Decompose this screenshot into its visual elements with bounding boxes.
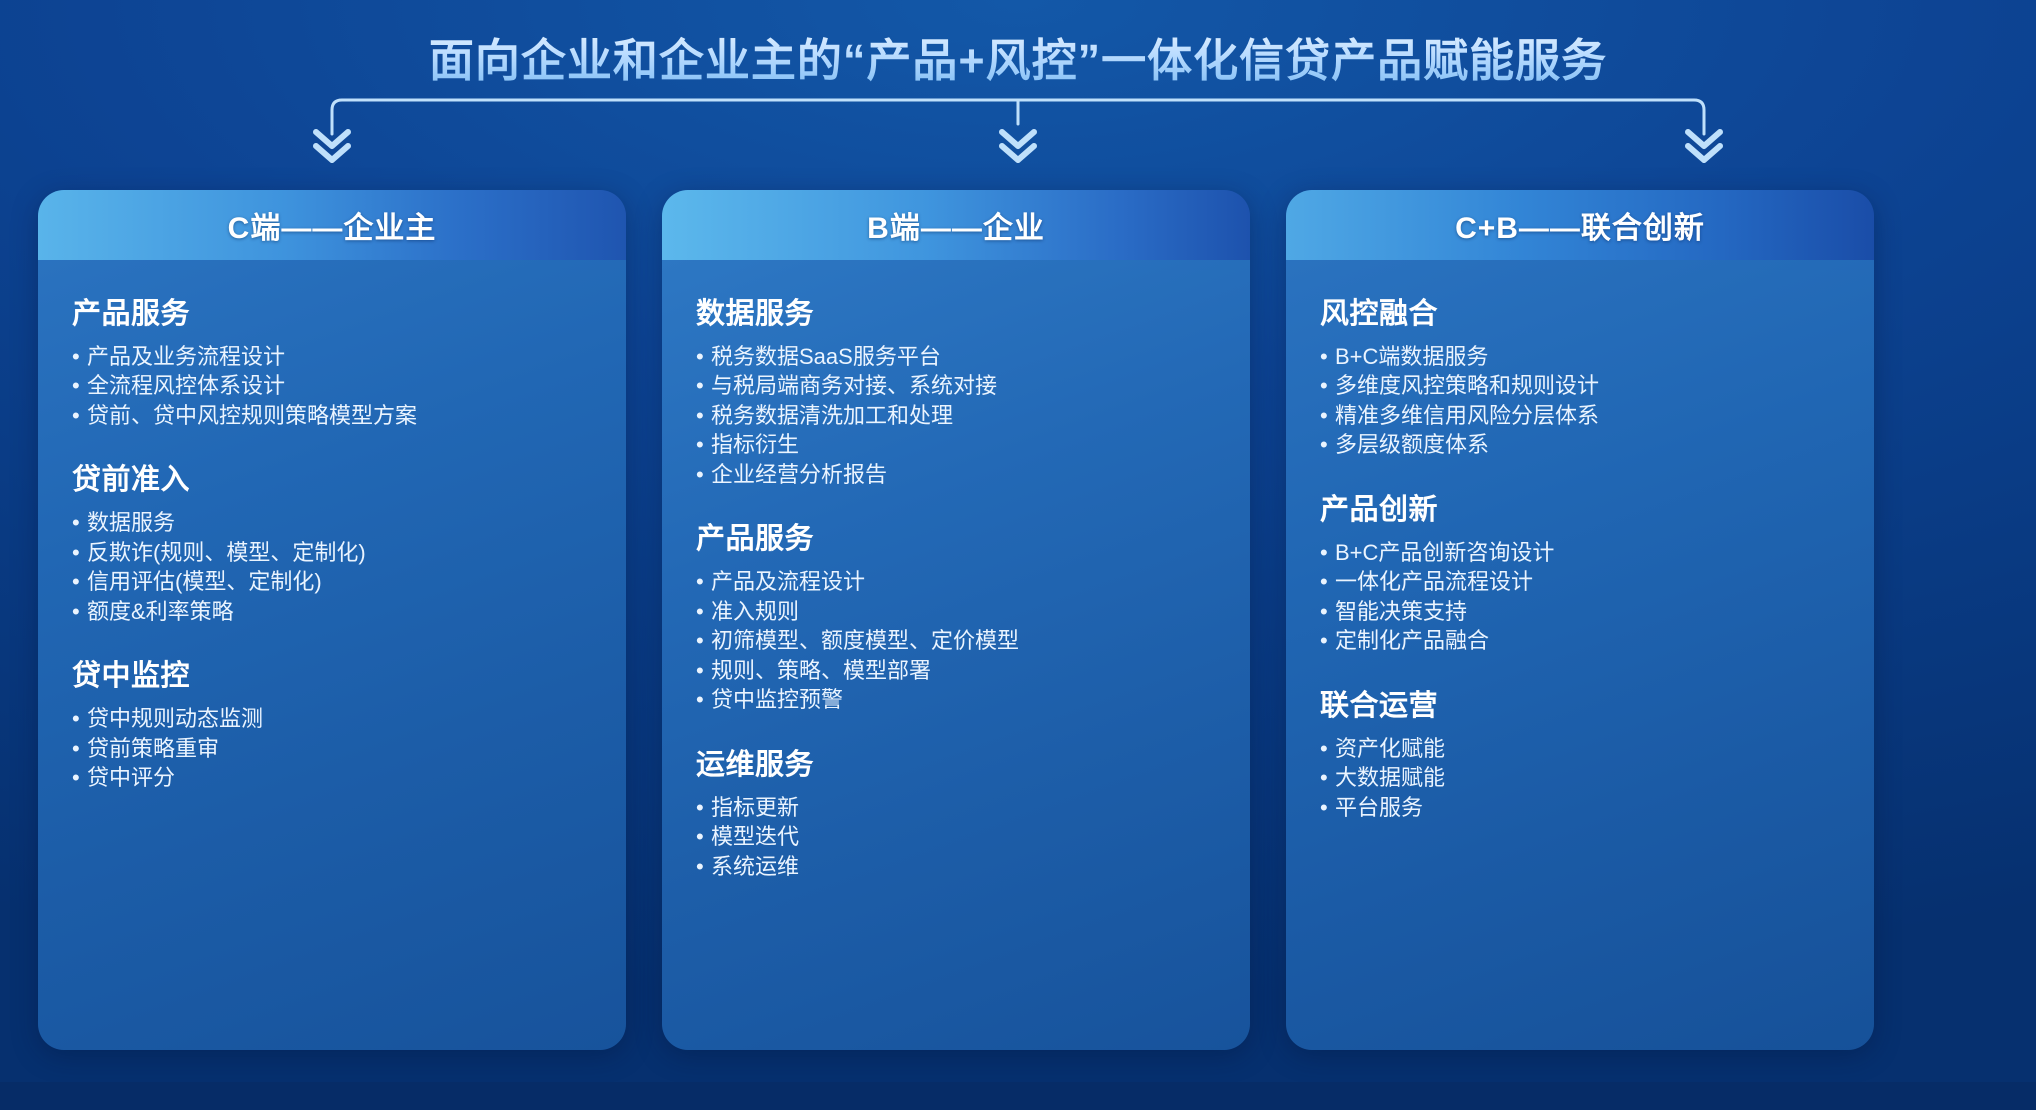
double-chevron-down-icon bbox=[316, 132, 1720, 160]
page-title-container: 面向企业和企业主的“产品+风控”一体化信贷产品赋能服务 bbox=[0, 24, 2036, 89]
bullet-list: 指标更新 模型迭代 系统运维 bbox=[696, 793, 1216, 881]
card-c-end[interactable]: C端——企业主 产品服务 产品及业务流程设计 全流程风控体系设计 贷前、贷中风控… bbox=[38, 190, 626, 1050]
bullet-list: 产品及业务流程设计 全流程风控体系设计 贷前、贷中风控规则策略模型方案 bbox=[72, 342, 592, 430]
card-body-b-end: 数据服务 税务数据SaaS服务平台 与税局端商务对接、系统对接 税务数据清洗加工… bbox=[662, 260, 1250, 1050]
section-block: 产品服务 产品及流程设计 准入规则 初筛模型、额度模型、定价模型 规则、策略、模… bbox=[696, 515, 1216, 714]
list-item: 贷中规则动态监测 bbox=[72, 704, 592, 733]
list-item: 准入规则 bbox=[696, 597, 1216, 626]
bullet-list: 税务数据SaaS服务平台 与税局端商务对接、系统对接 税务数据清洗加工和处理 指… bbox=[696, 342, 1216, 489]
list-item: 税务数据SaaS服务平台 bbox=[696, 342, 1216, 371]
list-item: 全流程风控体系设计 bbox=[72, 371, 592, 400]
list-item: 大数据赋能 bbox=[1320, 763, 1840, 792]
list-item: 指标更新 bbox=[696, 793, 1216, 822]
section-title: 数据服务 bbox=[696, 290, 1216, 332]
list-item: 信用评估(模型、定制化) bbox=[72, 567, 592, 596]
list-item: 贷中评分 bbox=[72, 763, 592, 792]
list-item: 额度&利率策略 bbox=[72, 597, 592, 626]
list-item: 平台服务 bbox=[1320, 793, 1840, 822]
section-title: 贷中监控 bbox=[72, 652, 592, 694]
list-item: 贷前、贷中风控规则策略模型方案 bbox=[72, 401, 592, 430]
list-item: 资产化赋能 bbox=[1320, 734, 1840, 763]
page-title: 面向企业和企业主的“产品+风控”一体化信贷产品赋能服务 bbox=[429, 24, 1607, 89]
card-b-end[interactable]: B端——企业 数据服务 税务数据SaaS服务平台 与税局端商务对接、系统对接 税… bbox=[662, 190, 1250, 1050]
section-block: 产品服务 产品及业务流程设计 全流程风控体系设计 贷前、贷中风控规则策略模型方案 bbox=[72, 290, 592, 430]
list-item: 指标衍生 bbox=[696, 430, 1216, 459]
section-block: 风控融合 B+C端数据服务 多维度风控策略和规则设计 精准多维信用风险分层体系 … bbox=[1320, 290, 1840, 460]
card-header-title: C端——企业主 bbox=[228, 203, 437, 247]
card-header-b-end: B端——企业 bbox=[662, 190, 1250, 260]
list-item: B+C产品创新咨询设计 bbox=[1320, 538, 1840, 567]
list-item: 初筛模型、额度模型、定价模型 bbox=[696, 626, 1216, 655]
list-item: 多维度风控策略和规则设计 bbox=[1320, 371, 1840, 400]
section-title: 产品创新 bbox=[1320, 486, 1840, 528]
section-block: 联合运营 资产化赋能 大数据赋能 平台服务 bbox=[1320, 682, 1840, 822]
list-item: 产品及流程设计 bbox=[696, 567, 1216, 596]
list-item: 企业经营分析报告 bbox=[696, 460, 1216, 489]
section-title: 产品服务 bbox=[72, 290, 592, 332]
section-block: 贷前准入 数据服务 反欺诈(规则、模型、定制化) 信用评估(模型、定制化) 额度… bbox=[72, 456, 592, 626]
bullet-list: 数据服务 反欺诈(规则、模型、定制化) 信用评估(模型、定制化) 额度&利率策略 bbox=[72, 508, 592, 626]
list-item: 产品及业务流程设计 bbox=[72, 342, 592, 371]
bullet-list: 产品及流程设计 准入规则 初筛模型、额度模型、定价模型 规则、策略、模型部署 贷… bbox=[696, 567, 1216, 714]
list-item: 一体化产品流程设计 bbox=[1320, 567, 1840, 596]
list-item: 贷中监控预警 bbox=[696, 685, 1216, 714]
card-header-cb-joint: C+B——联合创新 bbox=[1286, 190, 1874, 260]
card-body-c-end: 产品服务 产品及业务流程设计 全流程风控体系设计 贷前、贷中风控规则策略模型方案… bbox=[38, 260, 626, 1050]
section-title: 风控融合 bbox=[1320, 290, 1840, 332]
card-header-title: C+B——联合创新 bbox=[1455, 203, 1705, 247]
list-item: 数据服务 bbox=[72, 508, 592, 537]
section-title: 产品服务 bbox=[696, 515, 1216, 557]
section-block: 产品创新 B+C产品创新咨询设计 一体化产品流程设计 智能决策支持 定制化产品融… bbox=[1320, 486, 1840, 656]
list-item: 多层级额度体系 bbox=[1320, 430, 1840, 459]
card-body-cb-joint: 风控融合 B+C端数据服务 多维度风控策略和规则设计 精准多维信用风险分层体系 … bbox=[1286, 260, 1874, 1050]
card-row: C端——企业主 产品服务 产品及业务流程设计 全流程风控体系设计 贷前、贷中风控… bbox=[38, 190, 2000, 1050]
list-item: 系统运维 bbox=[696, 852, 1216, 881]
list-item: 定制化产品融合 bbox=[1320, 626, 1840, 655]
bullet-list: 资产化赋能 大数据赋能 平台服务 bbox=[1320, 734, 1840, 822]
section-title: 贷前准入 bbox=[72, 456, 592, 498]
list-item: B+C端数据服务 bbox=[1320, 342, 1840, 371]
section-block: 贷中监控 贷中规则动态监测 贷前策略重审 贷中评分 bbox=[72, 652, 592, 792]
list-item: 规则、策略、模型部署 bbox=[696, 656, 1216, 685]
card-header-c-end: C端——企业主 bbox=[38, 190, 626, 260]
slide-canvas: 面向企业和企业主的“产品+风控”一体化信贷产品赋能服务 C端——企业主 bbox=[0, 0, 2036, 1110]
section-title: 联合运营 bbox=[1320, 682, 1840, 724]
card-cb-joint[interactable]: C+B——联合创新 风控融合 B+C端数据服务 多维度风控策略和规则设计 精准多… bbox=[1286, 190, 1874, 1050]
section-title: 运维服务 bbox=[696, 741, 1216, 783]
list-item: 模型迭代 bbox=[696, 822, 1216, 851]
list-item: 精准多维信用风险分层体系 bbox=[1320, 401, 1840, 430]
section-block: 运维服务 指标更新 模型迭代 系统运维 bbox=[696, 741, 1216, 881]
bullet-list: B+C端数据服务 多维度风控策略和规则设计 精准多维信用风险分层体系 多层级额度… bbox=[1320, 342, 1840, 460]
list-item: 贷前策略重审 bbox=[72, 734, 592, 763]
list-item: 税务数据清洗加工和处理 bbox=[696, 401, 1216, 430]
card-header-title: B端——企业 bbox=[867, 203, 1045, 247]
list-item: 反欺诈(规则、模型、定制化) bbox=[72, 538, 592, 567]
bullet-list: 贷中规则动态监测 贷前策略重审 贷中评分 bbox=[72, 704, 592, 792]
list-item: 智能决策支持 bbox=[1320, 597, 1840, 626]
connector-diagram bbox=[0, 88, 2036, 163]
section-block: 数据服务 税务数据SaaS服务平台 与税局端商务对接、系统对接 税务数据清洗加工… bbox=[696, 290, 1216, 489]
list-item: 与税局端商务对接、系统对接 bbox=[696, 371, 1216, 400]
bullet-list: B+C产品创新咨询设计 一体化产品流程设计 智能决策支持 定制化产品融合 bbox=[1320, 538, 1840, 656]
